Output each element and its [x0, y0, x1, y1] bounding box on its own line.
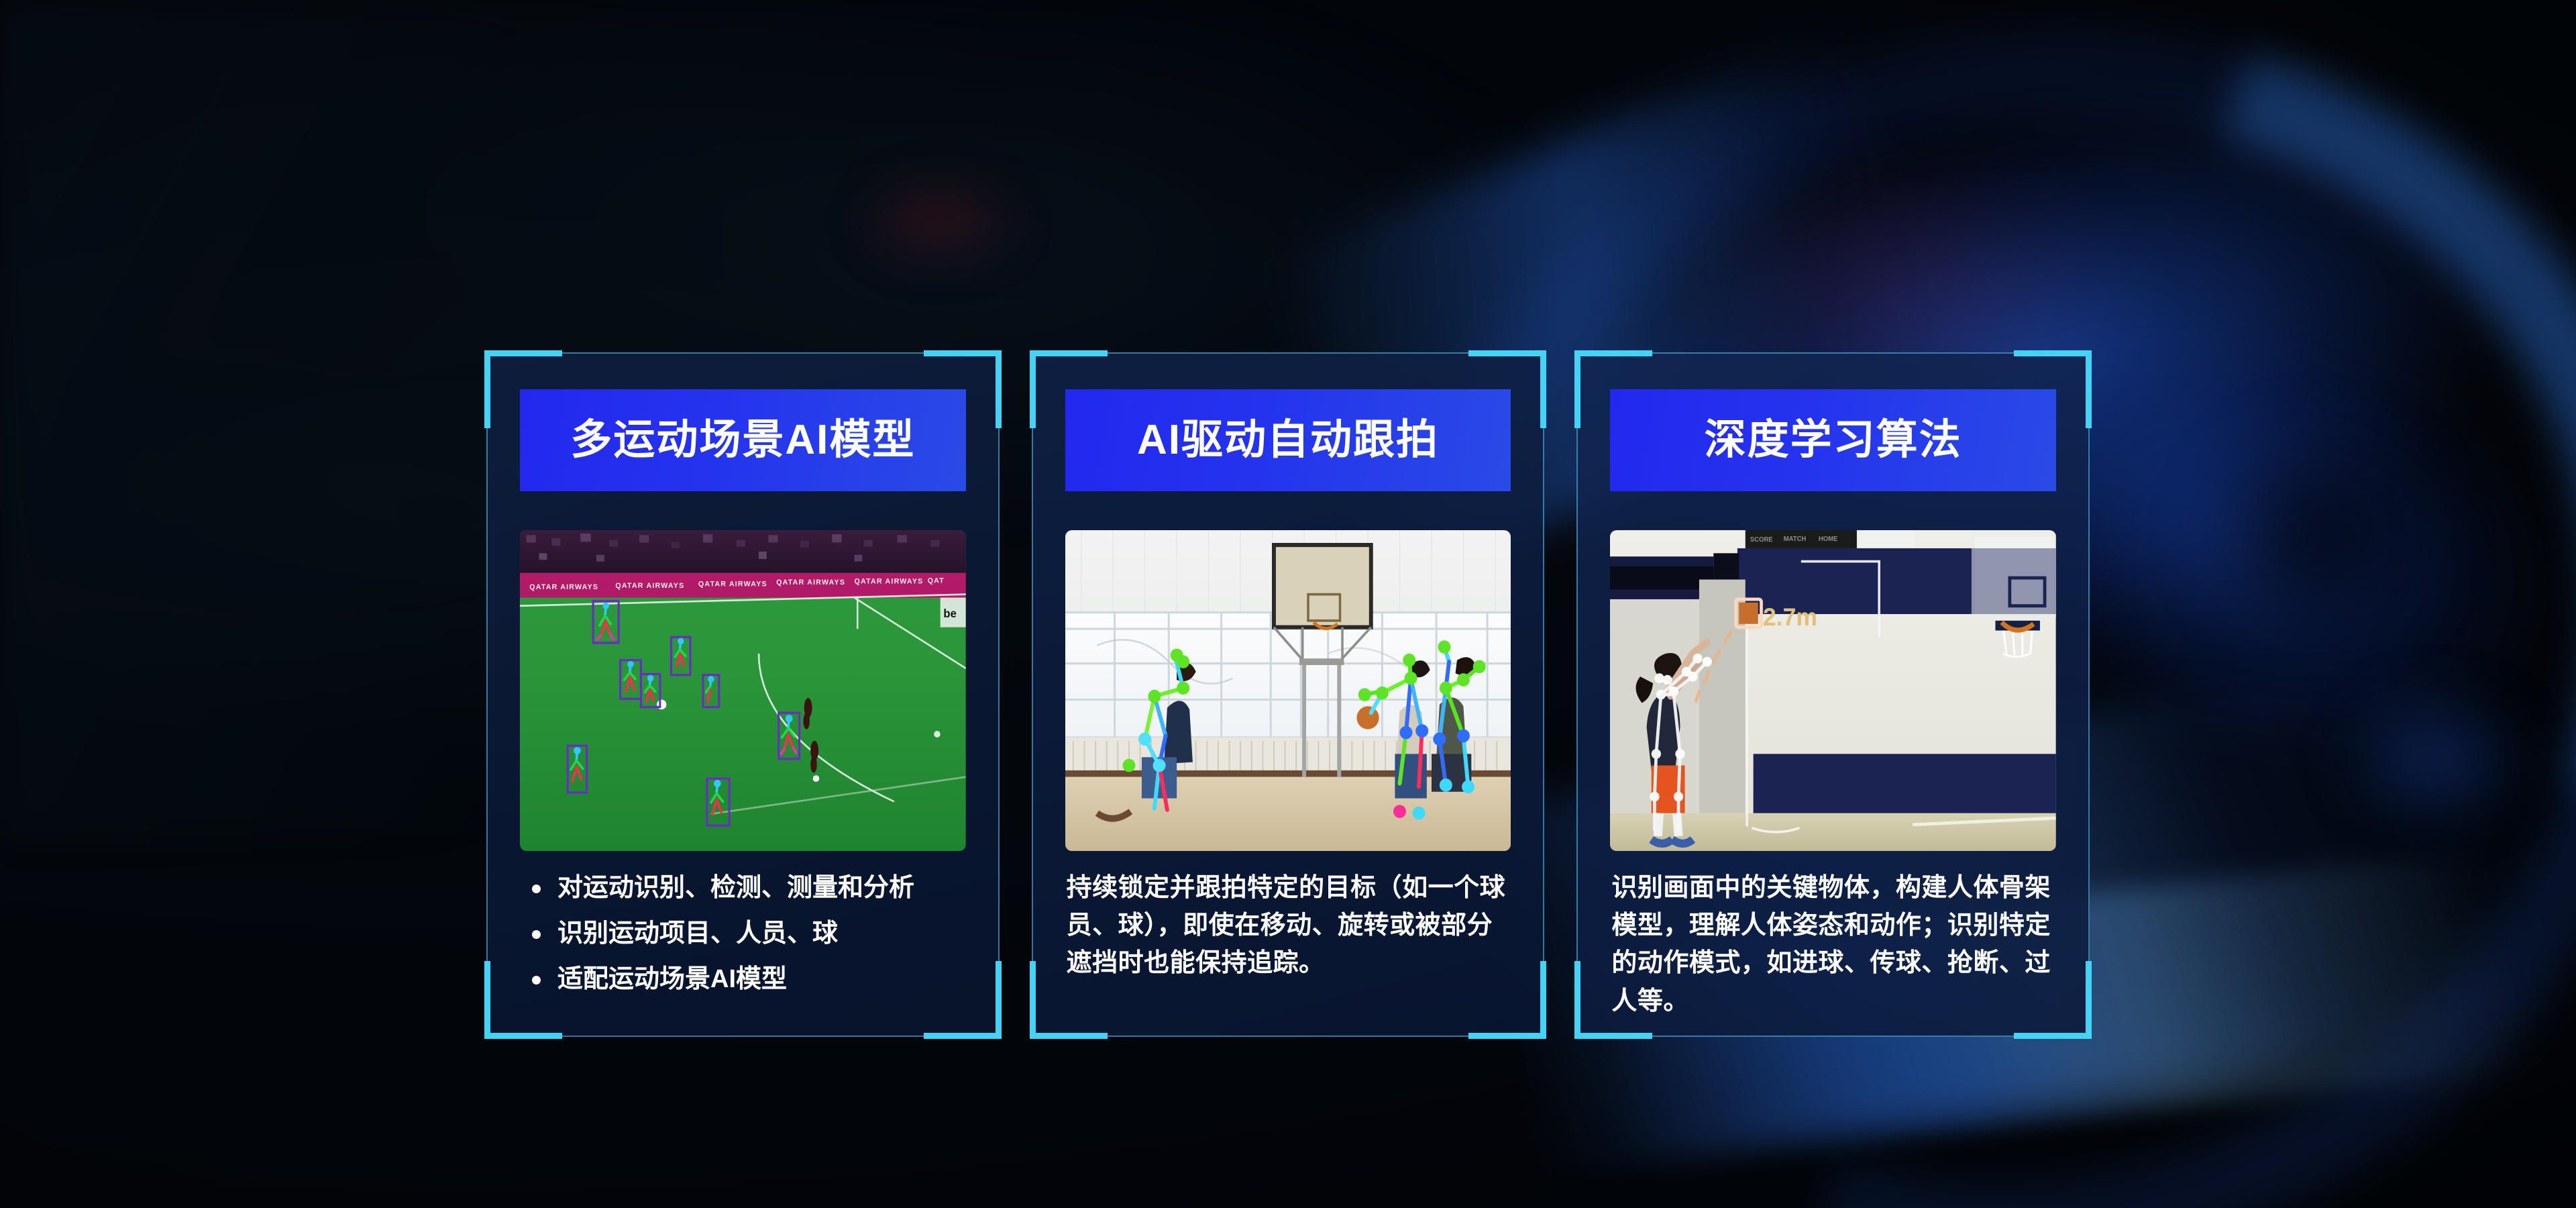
height-measure-label: 2.7m	[1763, 603, 1817, 632]
card-media-basketball-pose-tracking	[1065, 530, 1511, 851]
bullet-item: 对运动识别、检测、测量和分析	[516, 869, 970, 907]
bullet-list: 对运动识别、检测、测量和分析 识别运动项目、人员、球 适配运动场景AI模型	[516, 869, 970, 999]
svg-text:HOME: HOME	[1819, 536, 1838, 543]
feature-card-deep-learning-algorithm[interactable]: 深度学习算法 SCOREMATCHHOME	[1576, 352, 2090, 1037]
svg-text:QAT: QAT	[928, 576, 945, 585]
svg-text:SCORE: SCORE	[1750, 536, 1773, 544]
basketball-gym-pose-illustration	[1065, 530, 1511, 851]
card-media-soccer-pose-detection: QATAR AIRWAYS QATAR AIRWAYS QATAR AIRWAY…	[520, 530, 966, 851]
card-header-banner: AI驱动自动跟拍	[1065, 389, 1511, 491]
card-title: AI驱动自动跟拍	[1137, 419, 1439, 461]
card-header-banner: 深度学习算法	[1610, 389, 2056, 491]
soccer-pose-detection-illustration: QATAR AIRWAYS QATAR AIRWAYS QATAR AIRWAY…	[520, 530, 966, 851]
svg-text:QATAR AIRWAYS: QATAR AIRWAYS	[615, 582, 684, 590]
svg-text:QATAR AIRWAYS: QATAR AIRWAYS	[698, 580, 767, 588]
card-media-shot-height-measurement: SCOREMATCHHOME	[1610, 530, 2056, 851]
feature-card-multi-sport-ai-model[interactable]: 多运动场景AI模型	[486, 352, 1000, 1037]
svg-text:QATAR AIRWAYS: QATAR AIRWAYS	[855, 578, 924, 586]
bullet-item: 识别运动项目、人员、球	[516, 915, 970, 952]
feature-card-row: 多运动场景AI模型	[486, 352, 2090, 1037]
svg-text:QATAR AIRWAYS: QATAR AIRWAYS	[776, 578, 845, 587]
card-body-paragraph: 识别画面中的关键物体，构建人体骨架模型，理解人体姿态和动作；识别特定的动作模式，…	[1611, 869, 2063, 1014]
card-title: 多运动场景AI模型	[570, 419, 915, 461]
svg-text:MATCH: MATCH	[1784, 536, 1807, 543]
card-body-bullets: 对运动识别、检测、测量和分析 识别运动项目、人员、球 适配运动场景AI模型	[516, 869, 970, 1014]
basketball-height-measure-illustration: SCOREMATCHHOME	[1610, 530, 2056, 851]
svg-text:be: be	[943, 607, 956, 620]
card-header-banner: 多运动场景AI模型	[520, 389, 966, 491]
bullet-item: 适配运动场景AI模型	[516, 960, 970, 998]
feature-card-ai-auto-tracking[interactable]: AI驱动自动跟拍	[1032, 352, 1545, 1037]
svg-text:QATAR AIRWAYS: QATAR AIRWAYS	[529, 583, 598, 591]
card-title: 深度学习算法	[1705, 419, 1962, 461]
card-body-paragraph: 持续锁定并跟拍特定的目标（如一个球员、球），即使在移动、旋转或被部分遮挡时也能保…	[1067, 869, 1518, 1014]
